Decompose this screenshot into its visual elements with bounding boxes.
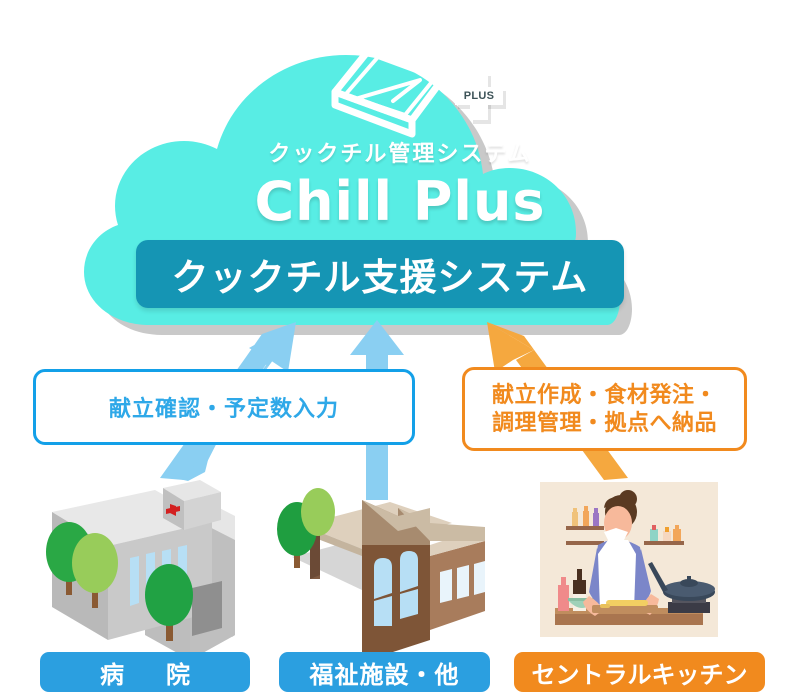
facility-label-kitchen-text: セントラルキッチン xyxy=(532,655,748,690)
plus-badge-label: PLUS xyxy=(455,87,503,105)
plus-badge-icon: PLUS xyxy=(455,72,503,120)
callout-right-line1: 献立作成・食材発注・ xyxy=(492,382,717,407)
main-banner-label: クックチル支援システム xyxy=(172,247,589,301)
callout-right-line2: 調理管理・拠点へ納品 xyxy=(492,410,717,435)
facility-label-welfare-text: 福祉施設・他 xyxy=(310,655,460,690)
facility-label-hospital[interactable]: 病 院 xyxy=(40,652,250,692)
facility-label-hospital-text: 病 院 xyxy=(91,655,199,690)
cloud-subtitle: クックチル管理システム xyxy=(0,136,800,168)
cloud-title: Chill Plus xyxy=(0,170,800,233)
callout-box-right: 献立作成・食材発注・ 調理管理・拠点へ納品 xyxy=(462,367,747,451)
central-kitchen-cook-photo xyxy=(540,482,718,637)
diagram-canvas: PLUS クックチル管理システム Chill Plus xyxy=(0,0,800,700)
welfare-facility-isometric-illustration xyxy=(277,488,485,662)
facility-label-welfare[interactable]: 福祉施設・他 xyxy=(279,652,490,692)
callout-left-text: 献立確認・予定数入力 xyxy=(109,391,339,423)
facility-illustrations xyxy=(0,0,800,700)
callout-right-text: 献立作成・食材発注・ 調理管理・拠点へ納品 xyxy=(492,381,717,436)
facility-label-kitchen[interactable]: セントラルキッチン xyxy=(514,652,765,692)
callout-box-left: 献立確認・予定数入力 xyxy=(33,369,415,445)
main-banner[interactable]: クックチル支援システム xyxy=(136,240,624,308)
hospital-isometric-illustration xyxy=(46,480,235,660)
